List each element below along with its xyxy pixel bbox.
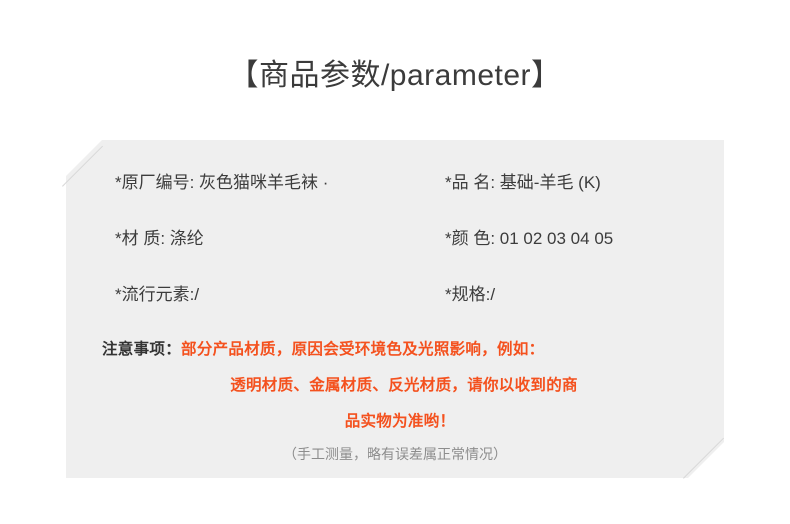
page-title: 【商品参数/parameter】: [0, 57, 790, 95]
spec-color: *颜 色: 01 02 03 04 05: [445, 227, 613, 251]
product-parameter-page: 【商品参数/parameter】 *原厂编号: 灰色猫咪羊毛袜 · *品 名: …: [0, 0, 790, 524]
notice-text-1: 部分产品材质，原因会受环境色及光照影响，例如：: [181, 341, 544, 358]
spec-product-name: *品 名: 基础-羊毛 (K): [445, 171, 601, 195]
spec-row: *流行元素:/ *规格:/: [66, 272, 724, 328]
measurement-footnote: （手工测量，略有误差属正常情况）: [66, 443, 724, 465]
spec-table: *原厂编号: 灰色猫咪羊毛袜 · *品 名: 基础-羊毛 (K) *材 质: 涤…: [66, 160, 724, 328]
notice-line-2: 透明材质、金属材质、反光材质，请你以收到的商: [66, 368, 724, 404]
notice-label: 注意事项：: [102, 341, 181, 358]
spec-row: *材 质: 涤纶 *颜 色: 01 02 03 04 05: [66, 216, 724, 272]
notice-line-3: 品实物为准哟！: [66, 404, 724, 440]
notice-line-1: 注意事项：部分产品材质，原因会受环境色及光照影响，例如：: [66, 332, 724, 368]
spec-specification: *规格:/: [445, 283, 495, 307]
spec-material: *材 质: 涤纶: [115, 227, 204, 251]
spec-row: *原厂编号: 灰色猫咪羊毛袜 · *品 名: 基础-羊毛 (K): [66, 160, 724, 216]
spec-factory-code: *原厂编号: 灰色猫咪羊毛袜 ·: [115, 171, 328, 195]
notice-block: 注意事项：部分产品材质，原因会受环境色及光照影响，例如： 透明材质、金属材质、反…: [66, 332, 724, 440]
spec-fashion-element: *流行元素:/: [115, 283, 199, 307]
